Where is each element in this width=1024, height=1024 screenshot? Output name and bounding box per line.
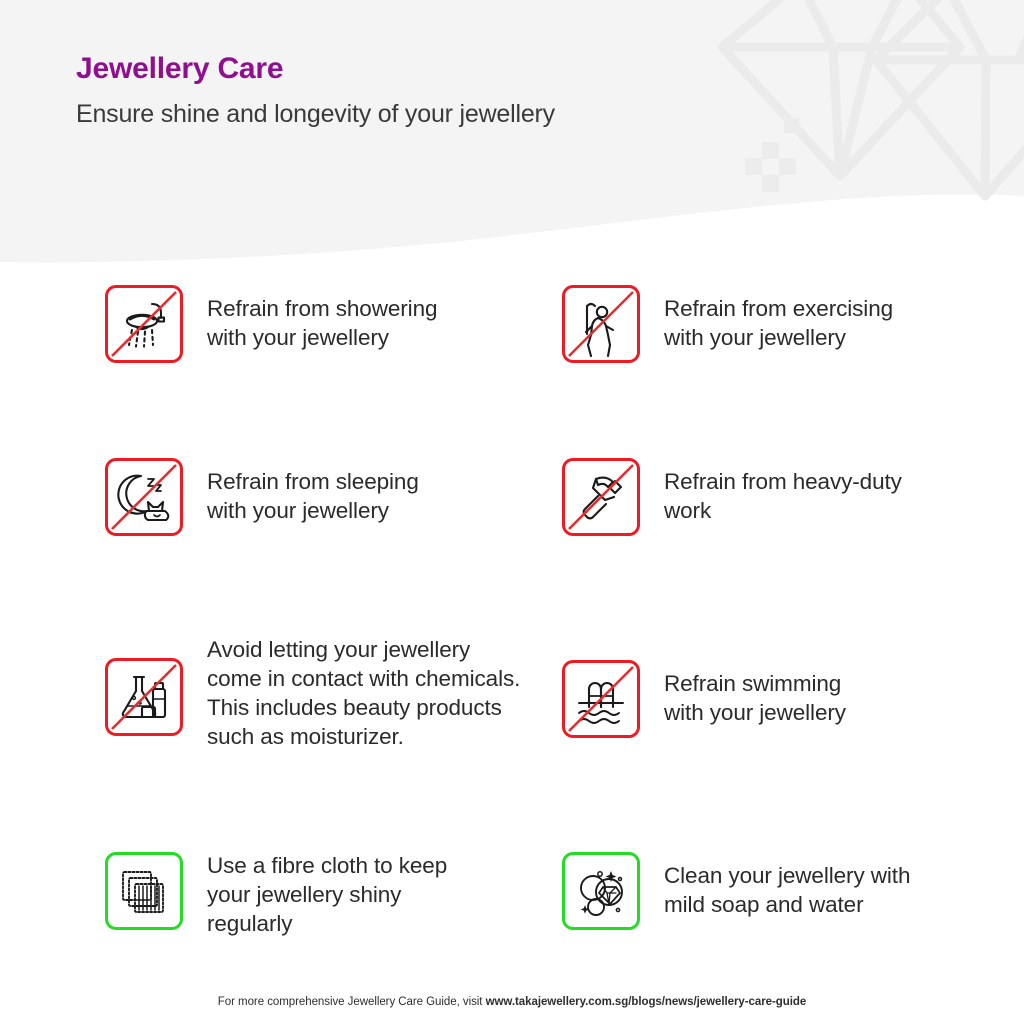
sleeping-moon-cat-icon: [105, 458, 183, 536]
tips-row: Avoid letting your jewellery come in con…: [0, 616, 1024, 801]
footer: For more comprehensive Jewellery Care Gu…: [0, 996, 1024, 1008]
shower-icon: [105, 285, 183, 363]
tip-item-exercising: Refrain from exercising with your jewell…: [562, 285, 893, 363]
footer-lead-text: For more comprehensive Jewellery Care Gu…: [218, 996, 486, 1008]
page-title: Jewellery Care: [76, 52, 555, 85]
tip-label: Refrain swimming with your jewellery: [664, 660, 846, 727]
swimming-pool-icon: [562, 660, 640, 738]
tip-label: Refrain from sleeping with your jeweller…: [207, 458, 419, 525]
tip-label: Clean your jewellery with mild soap and …: [664, 852, 910, 919]
hammer-icon: [562, 458, 640, 536]
slash-overlay-icon: [108, 661, 180, 733]
diamond-watermark-icon: [0, 0, 1024, 270]
tip-item-showering: Refrain from showering with your jewelle…: [105, 285, 437, 363]
header-banner: Jewellery Care Ensure shine and longevit…: [0, 0, 1024, 270]
tip-label: Use a fibre cloth to keep your jewellery…: [207, 842, 447, 938]
tip-label: Refrain from showering with your jewelle…: [207, 285, 437, 352]
tips-row: Refrain from showering with your jewelle…: [0, 272, 1024, 444]
slash-overlay-icon: [108, 461, 180, 533]
tip-label: Refrain from exercising with your jewell…: [664, 285, 893, 352]
soap-bubbles-diamond-icon: [562, 852, 640, 930]
tip-item-fibre-cloth: Use a fibre cloth to keep your jewellery…: [105, 842, 447, 938]
tip-label: Refrain from heavy-duty work: [664, 458, 902, 525]
slash-overlay-icon: [565, 288, 637, 360]
footer-url[interactable]: www.takajewellery.com.sg/blogs/news/jewe…: [486, 996, 807, 1008]
exercise-person-icon: [562, 285, 640, 363]
slash-overlay-icon: [565, 663, 637, 735]
tips-row: Refrain from sleeping with your jeweller…: [0, 444, 1024, 616]
tips-row: Use a fibre cloth to keep your jewellery…: [0, 801, 1024, 941]
fibre-cloth-icon: [105, 852, 183, 930]
slash-overlay-icon: [108, 288, 180, 360]
header-text-block: Jewellery Care Ensure shine and longevit…: [76, 52, 555, 129]
tip-item-sleeping: Refrain from sleeping with your jeweller…: [105, 458, 419, 536]
tip-item-soap-water: Clean your jewellery with mild soap and …: [562, 852, 910, 930]
tip-item-swimming: Refrain swimming with your jewellery: [562, 660, 846, 738]
care-tips-grid: Refrain from showering with your jewelle…: [0, 272, 1024, 941]
page-subtitle: Ensure shine and longevity of your jewel…: [76, 85, 555, 129]
slash-overlay-icon: [565, 461, 637, 533]
tip-label: Avoid letting your jewellery come in con…: [207, 633, 520, 751]
tip-item-heavy-duty: Refrain from heavy-duty work: [562, 458, 902, 536]
chemicals-flask-icon: [105, 658, 183, 736]
tip-item-chemicals: Avoid letting your jewellery come in con…: [105, 633, 520, 751]
